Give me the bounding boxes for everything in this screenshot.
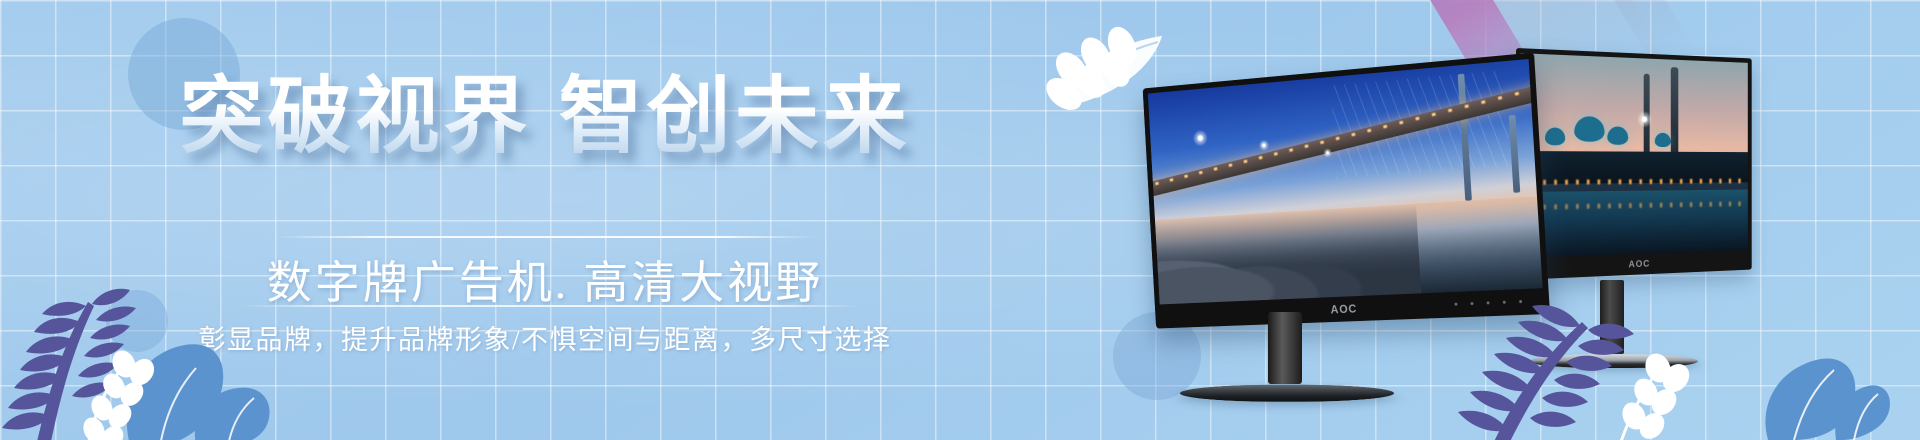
page-subtitle: 数字牌广告机. 高清大视野 (0, 246, 1090, 311)
brand-logo-secondary: AOC (1629, 259, 1651, 270)
dome-icon (1607, 126, 1628, 144)
monitor-primary-stand-neck (1268, 312, 1302, 384)
blue-leaf-icon (127, 344, 270, 440)
page-tagline: 彰显品牌，提升品牌形象/不惧空间与距离，多尺寸选择 (0, 318, 1090, 357)
bridge-screen (1148, 59, 1543, 304)
product-banner: 突破视界 智创未来 数字牌广告机. 高清大视野 彰显品牌，提升品牌形象/不惧空间… (0, 0, 1920, 440)
title-divider (275, 236, 815, 238)
brand-logo-primary: AOC (1330, 302, 1357, 316)
osd-button-dot[interactable] (1519, 300, 1522, 303)
osd-button-dot[interactable] (1487, 301, 1490, 304)
osd-button-dot[interactable] (1454, 303, 1457, 306)
subtitle-divider (240, 305, 860, 307)
monitor-primary: AOC (1080, 40, 1600, 440)
white-sprig-icon (79, 347, 159, 440)
monitor-primary-bezel: AOC (1143, 52, 1550, 328)
osd-button-dot[interactable] (1503, 301, 1506, 304)
monitor-osd-buttons[interactable] (1454, 300, 1522, 306)
osd-button-dot[interactable] (1470, 302, 1473, 305)
monitor-secondary-stand-neck (1600, 280, 1624, 354)
monitor-primary-stand-base (1177, 385, 1396, 402)
bridge-rocks (1148, 204, 1421, 305)
page-title: 突破视界 智创未来 (0, 72, 1090, 160)
